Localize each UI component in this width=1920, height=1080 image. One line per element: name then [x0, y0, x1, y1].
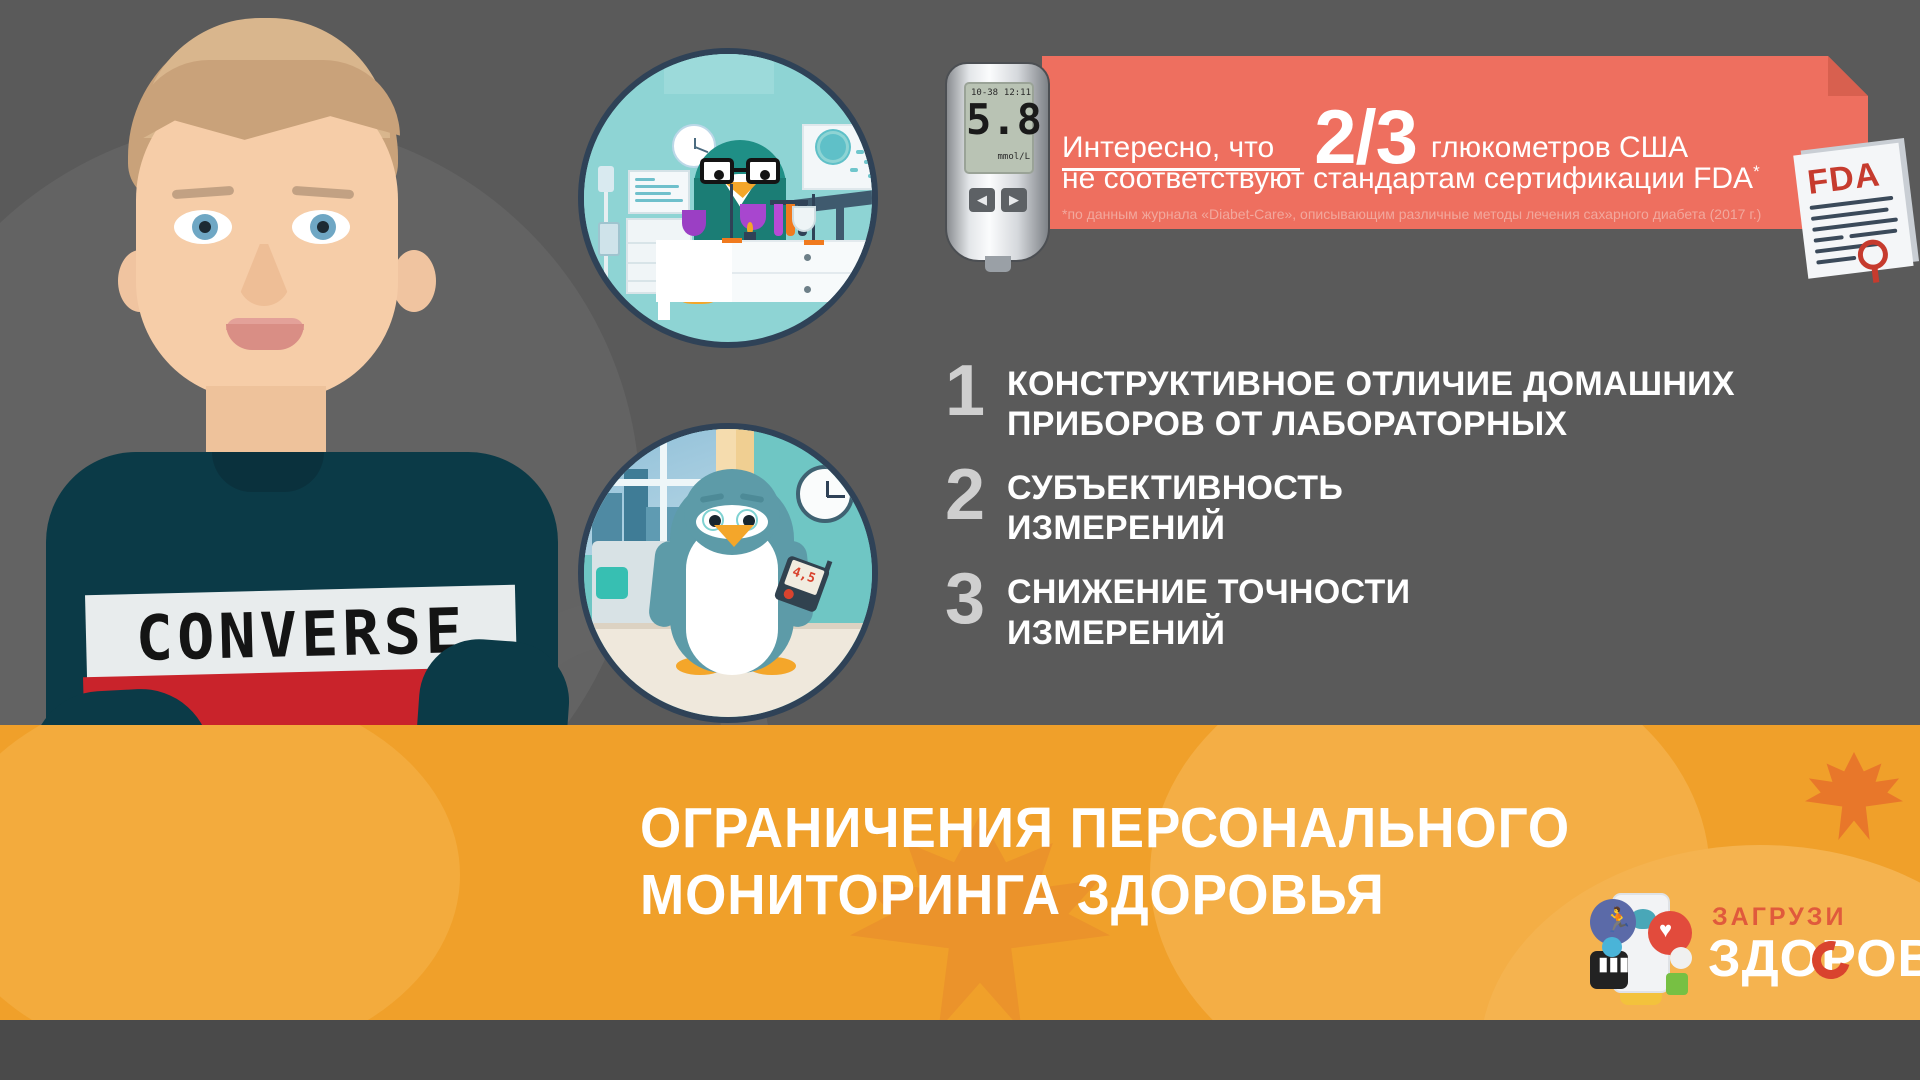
flask-violet: [740, 204, 766, 230]
callout-asterisk: *: [1753, 162, 1760, 181]
iv-bag: [598, 166, 614, 192]
list-item-text: СНИЖЕНИЕ ТОЧНОСТИ ИЗМЕРЕНИЙ: [1007, 566, 1410, 652]
fda-document-icon: FDA: [1793, 135, 1920, 278]
infographic-slide: CONVERSE: [0, 0, 1920, 1080]
window-frame-vertical: [660, 429, 667, 555]
lab-keypad: [598, 222, 620, 256]
round-bottom-flask: [792, 206, 816, 232]
lab-bench-leg: [658, 240, 670, 320]
badge-icon-blue: [1602, 937, 1622, 957]
glucometer-unit: mmol/L: [966, 152, 1030, 162]
burner: [744, 232, 756, 240]
brand-logo[interactable]: 🏃 ♥ ▮▮▮ ЗАГРУЗИ ЗДОРОВЬЕ: [1590, 885, 1910, 1005]
list-item-line-1: КОНСТРУКТИВНОЕ ОТЛИЧИЕ ДОМАШНИХ: [1007, 364, 1735, 404]
glucometer-next-button[interactable]: ▶: [1001, 188, 1027, 212]
illustration-circle-home: 4,5: [578, 423, 878, 723]
list-item: 3 СНИЖЕНИЕ ТОЧНОСТИ ИЗМЕРЕНИЙ: [945, 566, 1845, 652]
list-item: 2 СУБЪЕКТИВНОСТЬ ИЗМЕРЕНИЙ: [945, 462, 1845, 548]
wall-clock-icon: [796, 465, 854, 523]
retort-stand: [730, 184, 733, 240]
list-item-text: СУБЪЕКТИВНОСТЬ ИЗМЕРЕНИЙ: [1007, 462, 1343, 548]
glucometer-test-strip-port: [985, 256, 1011, 272]
retort-stand-2-base: [804, 240, 824, 245]
flask-purple: [682, 210, 706, 236]
glucometer-device: 10-38 12:11 5.8 mmol/L ◀ ▶: [945, 62, 1050, 262]
page-title: ОГРАНИЧЕНИЯ ПЕРСОНАЛЬНОГО МОНИТОРИНГА ЗД…: [640, 795, 1644, 930]
iris-right: [310, 214, 336, 240]
lab-drawers: [732, 240, 878, 302]
bottom-strip: [0, 1020, 1920, 1080]
handheld-glucometer-value: 4,5: [790, 565, 817, 587]
list-item-number: 1: [945, 358, 1007, 424]
list-item-text: КОНСТРУКТИВНОЕ ОТЛИЧИЕ ДОМАШНИХ ПРИБОРОВ…: [1007, 358, 1735, 444]
lab-stand-leg: [836, 204, 844, 242]
lab-monitor: [628, 170, 690, 214]
germ-icon: [856, 150, 864, 154]
badge-icon-green: [1666, 973, 1688, 995]
iris-left: [192, 214, 218, 240]
fda-label: FDA: [1805, 155, 1882, 203]
retort-stand-base: [722, 238, 742, 243]
list-item-line-2: ИЗМЕРЕНИЙ: [1007, 613, 1410, 653]
list-item-line-2: ПРИБОРОВ ОТ ЛАБОРАТОРНЫХ: [1007, 404, 1735, 444]
badge-icon-white: [1670, 947, 1692, 969]
penguin-glasses-icon: [700, 158, 780, 184]
glucometer-screen: 10-38 12:11 5.8 mmol/L: [964, 82, 1034, 174]
germ-icon: [868, 174, 876, 178]
glucometer-reading: 5.8: [966, 99, 1036, 141]
callout-tail-text: глюкометров США: [1431, 131, 1688, 164]
glucometer-prev-button[interactable]: ◀: [969, 188, 995, 212]
logo-top-word: ЗАГРУЗИ: [1712, 903, 1846, 932]
germ-icon: [850, 168, 858, 172]
fda-document-sheet: FDA: [1793, 143, 1913, 279]
list-item-number: 2: [945, 462, 1007, 528]
list-item-number: 3: [945, 566, 1007, 632]
callout-line-2-text: не соответствуют стандартам сертификации…: [1062, 162, 1753, 195]
illustration-circle-laboratory: [578, 48, 878, 348]
list-item: 1 КОНСТРУКТИВНОЕ ОТЛИЧИЕ ДОМАШНИХ ПРИБОР…: [945, 358, 1845, 444]
germ-icon: [864, 160, 872, 164]
list-item-line-2: ИЗМЕРЕНИЙ: [1007, 508, 1343, 548]
callout-footnote: *по данным журнала «Diabet-Care», описыв…: [1062, 206, 1761, 222]
test-tube: [774, 204, 783, 236]
runner-glyph: 🏃: [1603, 909, 1633, 933]
list-item-line-1: СНИЖЕНИЕ ТОЧНОСТИ: [1007, 572, 1410, 612]
lab-wall-highlight: [664, 54, 774, 94]
list-item-line-1: СУБЪЕКТИВНОСТЬ: [1007, 468, 1343, 508]
callout-banner: Интересно, что2/3глюкометров США не соот…: [1042, 56, 1868, 229]
banner-decor-wave: [0, 725, 460, 1020]
heart-glyph: ♥: [1659, 919, 1672, 941]
banner-corner-shadow: [1828, 56, 1868, 96]
virus-icon: [820, 134, 846, 160]
key-points-list: 1 КОНСТРУКТИВНОЕ ОТЛИЧИЕ ДОМАШНИХ ПРИБОР…: [945, 358, 1845, 671]
chart-glyph: ▮▮▮: [1598, 955, 1629, 974]
callout-line-2: не соответствуют стандартам сертификации…: [1062, 162, 1760, 196]
page-title-line-2: МОНИТОРИНГА ЗДОРОВЬЯ: [640, 862, 1644, 929]
page-title-line-1: ОГРАНИЧЕНИЯ ПЕРСОНАЛЬНОГО: [640, 795, 1644, 862]
ear-right: [392, 250, 436, 312]
